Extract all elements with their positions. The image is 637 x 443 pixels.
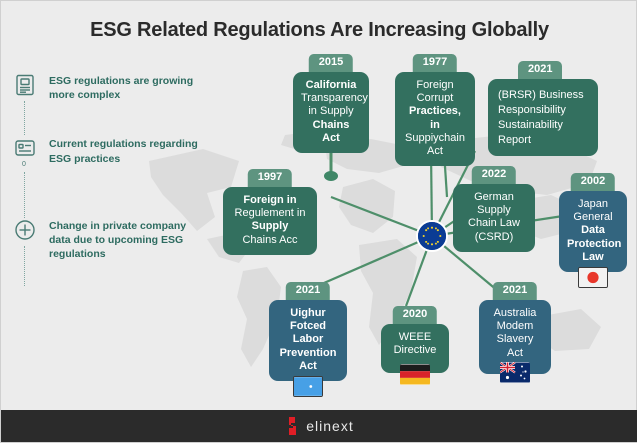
node-card[interactable]: Foreign in Regulement in Supply Chains A… xyxy=(223,187,317,255)
elinext-logo-icon xyxy=(285,416,299,436)
sidebar: ESG regulations are growing more complex… xyxy=(13,73,203,261)
japan-flag xyxy=(578,267,608,288)
page-title: ESG Related Regulations Are Increasing G… xyxy=(1,19,637,42)
card-line: in Supply xyxy=(301,105,361,118)
card-line: Uighur xyxy=(277,307,339,320)
sidebar-item-label: ESG regulations are growing more complex xyxy=(49,73,199,102)
footer-bar: elinext xyxy=(1,410,637,442)
node-year-badge: 1997 xyxy=(248,169,292,188)
card-line: Directive xyxy=(389,344,441,357)
sidebar-item-label: Change in private company data due to up… xyxy=(49,218,199,262)
sidebar-item-label: Current regulations regarding ESG practi… xyxy=(49,136,199,165)
card-line: Foreign xyxy=(403,79,467,92)
card-line: Corrupt xyxy=(403,92,467,105)
card-line: Chain Law xyxy=(461,217,527,230)
card-list-icon: 0 xyxy=(13,136,37,160)
australia-flag xyxy=(500,362,530,383)
card-line: Fotced xyxy=(277,320,339,333)
sidebar-dotted-connector xyxy=(24,246,25,286)
card-line: WEEE xyxy=(389,331,441,344)
node-card[interactable]: German Supply Chain Law (CSRD) xyxy=(453,184,535,252)
card-line: Chains Acc xyxy=(231,234,309,247)
card-line: Modem xyxy=(487,320,543,333)
node-year-badge: 2022 xyxy=(472,166,516,185)
card-line: Act xyxy=(301,132,361,145)
card-line: Suppiychain xyxy=(403,132,467,145)
east-turkestan-flag xyxy=(293,376,323,397)
card-line: Act xyxy=(277,360,339,373)
node-year-badge: 2021 xyxy=(518,61,562,80)
card-line: Transparency xyxy=(301,92,361,105)
card-line: Japan xyxy=(567,198,619,211)
node-year-badge: 2021 xyxy=(493,282,537,301)
card-line: (CSRD) xyxy=(461,231,527,244)
card-line: Protection xyxy=(567,238,619,251)
card-line: Report xyxy=(498,133,588,148)
card-line: Responsibility xyxy=(498,103,588,118)
node-year-badge: 1977 xyxy=(413,54,457,73)
sidebar-dotted-connector xyxy=(24,101,25,135)
node-card[interactable]: California Transparency in Supply Chains… xyxy=(293,72,369,153)
card-line: Supply xyxy=(231,220,309,233)
card-line: Act xyxy=(403,145,467,158)
sidebar-dotted-connector xyxy=(24,172,25,218)
card-line: Law xyxy=(567,251,619,264)
germany-flag xyxy=(400,364,430,385)
node-year-badge: 2015 xyxy=(309,54,353,73)
california-pin-stem xyxy=(324,151,338,181)
card-line: Slavery xyxy=(487,333,543,346)
card-line: German xyxy=(461,191,527,204)
sidebar-item-private-company-data[interactable]: Change in private company data due to up… xyxy=(13,218,203,262)
node-year-badge: 2021 xyxy=(286,282,330,301)
node-card[interactable]: Japan General Data Protection Law xyxy=(559,191,627,272)
node-card[interactable]: Foreign Corrupt Practices, in Suppiychai… xyxy=(395,72,475,166)
card-line: Prevention xyxy=(277,347,339,360)
card-line: Labor xyxy=(277,333,339,346)
plus-circle-icon xyxy=(13,218,37,242)
card-line: (BRSR) Business xyxy=(498,88,588,103)
node-card[interactable]: (BRSR) Business Responsibility Sustainab… xyxy=(488,79,598,156)
card-line: Sustainability xyxy=(498,118,588,133)
card-line: Data xyxy=(567,224,619,237)
card-line: Chains xyxy=(301,119,361,132)
eu-flag-hub[interactable] xyxy=(416,220,448,252)
card-line: Act xyxy=(487,347,543,360)
sidebar-sub-label: 0 xyxy=(22,161,26,168)
node-year-badge: 2002 xyxy=(571,173,615,192)
sidebar-item-current-regulations[interactable]: 0 Current regulations regarding ESG prac… xyxy=(13,136,203,165)
footer-logo-text: elinext xyxy=(306,418,353,434)
card-line: Practices, in xyxy=(403,105,467,131)
sidebar-item-complexity[interactable]: ESG regulations are growing more complex xyxy=(13,73,203,102)
card-line: General xyxy=(567,211,619,224)
card-line: Australia xyxy=(487,307,543,320)
card-line: Foreign in xyxy=(231,194,309,207)
document-icon xyxy=(13,73,37,97)
card-line: California xyxy=(301,79,361,92)
infographic-root: ESG Related Regulations Are Increasing G… xyxy=(0,0,637,443)
card-line: Regulement in xyxy=(231,207,309,220)
card-line: Supply xyxy=(461,204,527,217)
node-year-badge: 2020 xyxy=(393,306,437,325)
node-card[interactable]: Uighur Fotced Labor Prevention Act xyxy=(269,300,347,381)
